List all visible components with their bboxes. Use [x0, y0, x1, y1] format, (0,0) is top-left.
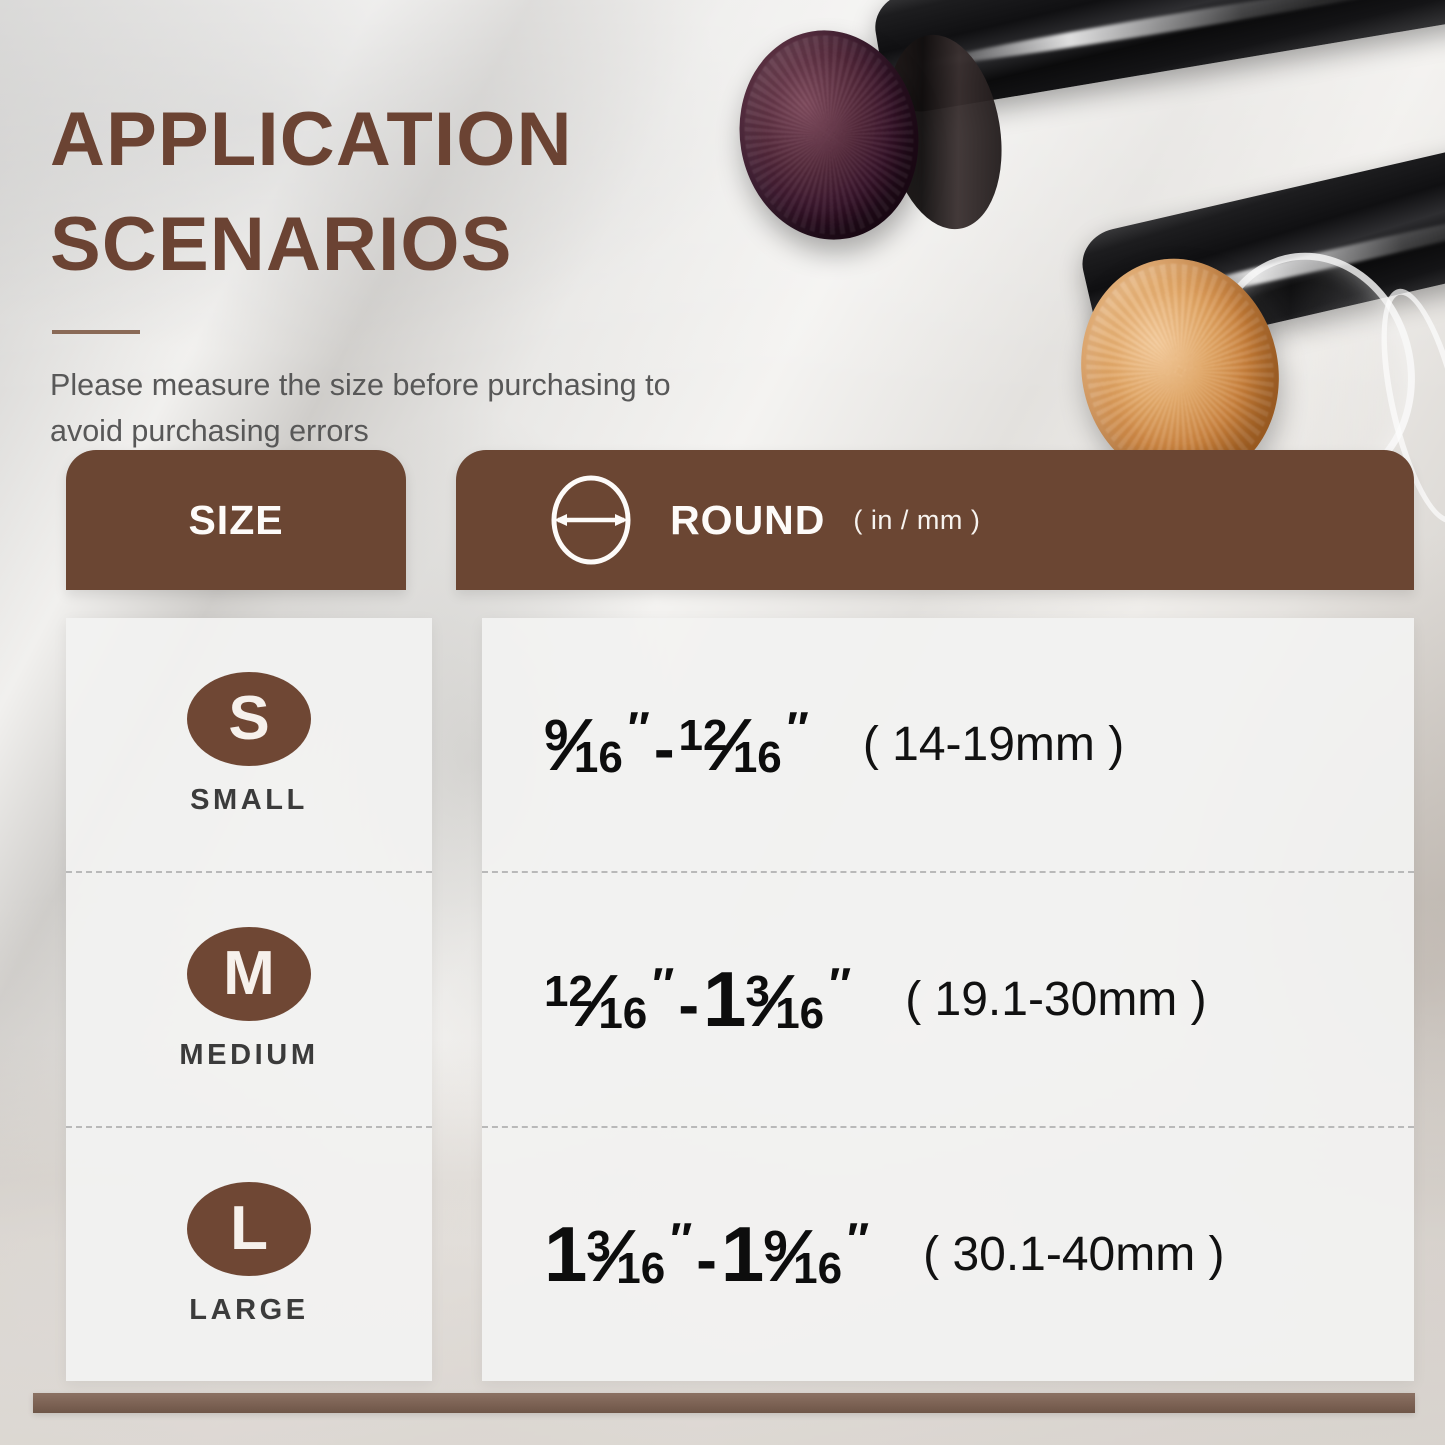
- fraction-denominator: 16: [616, 1244, 665, 1294]
- table-header-row: SIZE ROUND ( in / mm ): [66, 450, 1414, 590]
- table-body: S SMALL M MEDIUM L LARGE 9 ⁄ 16: [66, 618, 1414, 1381]
- dimension-mm: ( 14-19mm ): [863, 717, 1124, 772]
- fraction-numerator: 12: [679, 711, 728, 761]
- size-word: MEDIUM: [179, 1039, 318, 1072]
- size-badge: M: [187, 927, 311, 1021]
- inch-mark: ″: [628, 701, 650, 755]
- dimension-inches: 12 ⁄ 16 ″ - 1 3 ⁄ 16 ″: [544, 954, 851, 1045]
- inch-mark: ″: [670, 1212, 692, 1266]
- round-column-panel: 9 ⁄ 16 ″ - 12 ⁄ 16 ″ ( 14-19mm ): [482, 618, 1414, 1381]
- range-dash: -: [654, 714, 675, 785]
- inch-mark: ″: [847, 1212, 869, 1266]
- round-column-units: ( in / mm ): [853, 505, 980, 536]
- table-row: M MEDIUM: [66, 871, 432, 1126]
- fraction-denominator: 16: [598, 989, 647, 1039]
- fraction-to: 1 3 ⁄ 16: [703, 954, 824, 1045]
- fraction-denominator: 16: [793, 1244, 842, 1294]
- dimension-inches: 1 3 ⁄ 16 ″ - 1 9 ⁄ 16 ″: [544, 1209, 869, 1300]
- bottom-accent-bar: [33, 1393, 1415, 1413]
- size-column-panel: S SMALL M MEDIUM L LARGE: [66, 618, 432, 1381]
- fraction-numerator: 12: [544, 967, 593, 1017]
- size-badge: S: [187, 672, 311, 766]
- range-dash: -: [678, 970, 699, 1041]
- fraction-whole: 1: [703, 954, 745, 1045]
- inch-mark: ″: [787, 701, 809, 755]
- fraction-to: 1 9 ⁄ 16: [721, 1209, 842, 1300]
- table-row: 1 3 ⁄ 16 ″ - 1 9 ⁄ 16 ″ ( 30.1-40mm: [482, 1126, 1414, 1381]
- page-title-line-1: APPLICATION: [50, 88, 750, 193]
- fraction-from: 1 3 ⁄ 16: [544, 1209, 665, 1300]
- size-badge: L: [187, 1182, 311, 1276]
- dimension-inches: 9 ⁄ 16 ″ - 12 ⁄ 16 ″: [544, 702, 809, 787]
- table-row: L LARGE: [66, 1126, 432, 1381]
- tube-highlight: [917, 0, 1445, 73]
- fraction-to: 12 ⁄ 16: [679, 702, 782, 787]
- inch-mark: ″: [652, 957, 674, 1011]
- size-word: LARGE: [189, 1294, 309, 1327]
- title-divider: [52, 330, 140, 334]
- table-header-size: SIZE: [66, 450, 406, 590]
- round-column-label: ROUND: [670, 497, 825, 544]
- fraction-denominator: 16: [733, 733, 782, 783]
- size-chart-table: SIZE ROUND ( in / mm ) S SMALL M MEDIUM: [66, 450, 1414, 1381]
- table-header-round: ROUND ( in / mm ): [456, 450, 1414, 590]
- fraction-whole: 1: [544, 1209, 586, 1300]
- table-row: S SMALL: [66, 618, 432, 871]
- page-title-line-2: SCENARIOS: [50, 193, 750, 298]
- circle-diameter-icon: [548, 474, 634, 566]
- table-row: 12 ⁄ 16 ″ - 1 3 ⁄ 16 ″ ( 19.1-30mm ): [482, 871, 1414, 1126]
- size-column-label: SIZE: [188, 497, 283, 544]
- range-dash: -: [696, 1225, 717, 1296]
- fraction-denominator: 16: [574, 733, 623, 783]
- fraction-from: 12 ⁄ 16: [544, 958, 647, 1043]
- dimension-mm: ( 30.1-40mm ): [923, 1227, 1224, 1282]
- dimension-mm: ( 19.1-30mm ): [905, 972, 1206, 1027]
- inch-mark: ″: [829, 957, 851, 1011]
- fraction-whole: 1: [721, 1209, 763, 1300]
- fraction-from: 9 ⁄ 16: [544, 702, 623, 787]
- table-row: 9 ⁄ 16 ″ - 12 ⁄ 16 ″ ( 14-19mm ): [482, 618, 1414, 871]
- fraction-denominator: 16: [775, 989, 824, 1039]
- title-block: APPLICATION SCENARIOS Please measure the…: [50, 88, 750, 454]
- size-word: SMALL: [190, 784, 308, 817]
- subtitle-text: Please measure the size before purchasin…: [50, 362, 750, 455]
- product-photo: [690, 0, 1445, 460]
